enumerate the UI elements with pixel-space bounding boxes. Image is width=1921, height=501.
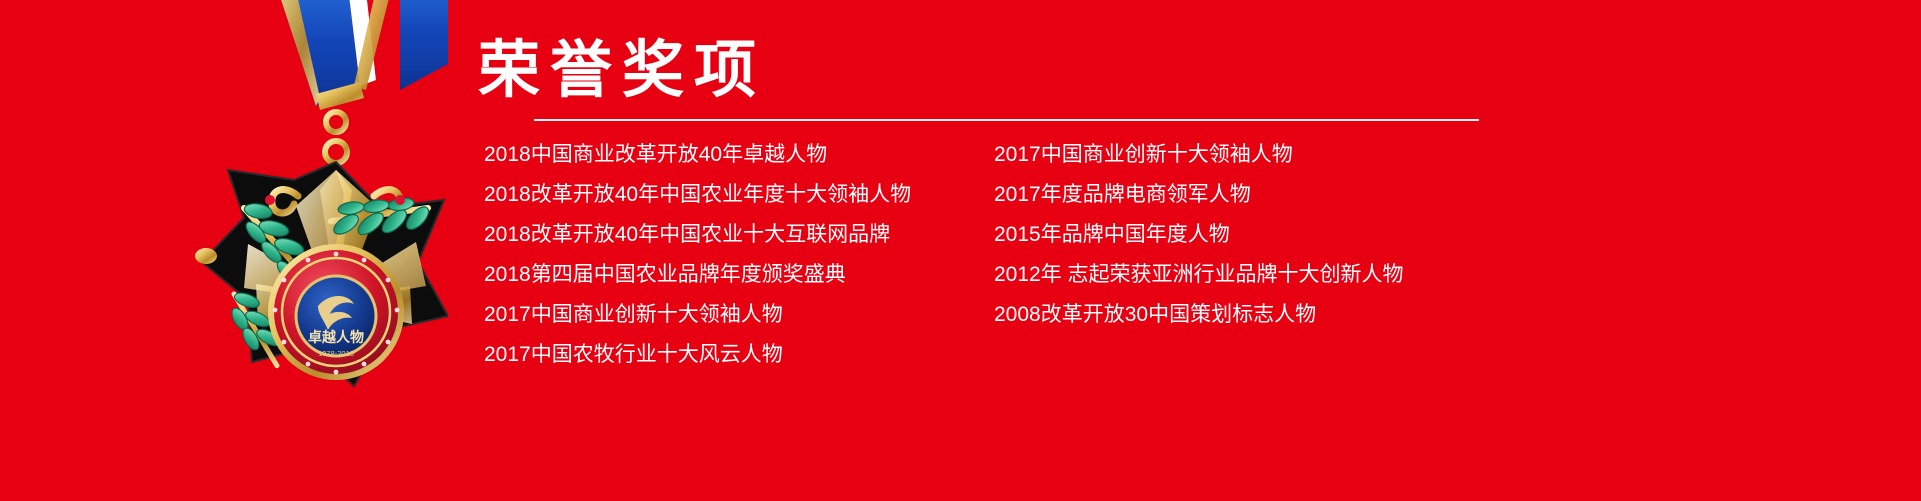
- award-item: 2018中国商业改革开放40年卓越人物: [484, 135, 994, 175]
- award-item: 2017中国商业创新十大领袖人物: [994, 135, 1464, 175]
- medal-center-text: 卓越人物: [308, 329, 364, 345]
- medal-ribbon: [266, 0, 448, 110]
- awards-column-right: 2017中国商业创新十大领袖人物 2017年度品牌电商领军人物 2015年品牌中…: [994, 135, 1464, 335]
- medal-nub: [195, 248, 217, 264]
- award-item: 2017年度品牌电商领军人物: [994, 175, 1464, 215]
- medal-center-years: 1978-2018: [318, 349, 354, 358]
- award-item: 2017中国商业创新十大领袖人物: [484, 295, 994, 335]
- banner-content: 荣誉奖项 2018中国商业改革开放40年卓越人物 2018改革开放40年中国农业…: [478, 38, 1478, 375]
- honor-awards-banner: 卓越人物 1978-2018 荣誉奖项 2018中国商业改革开放40年卓越人物 …: [0, 0, 1921, 501]
- title-divider: [534, 119, 1479, 121]
- award-item: 2015年品牌中国年度人物: [994, 215, 1464, 255]
- award-item: 2018第四届中国农业品牌年度颁奖盛典: [484, 255, 994, 295]
- page-title: 荣誉奖项: [478, 38, 1478, 103]
- awards-column-left: 2018中国商业改革开放40年卓越人物 2018改革开放40年中国农业年度十大领…: [478, 135, 994, 375]
- awards-columns: 2018中国商业改革开放40年卓越人物 2018改革开放40年中国农业年度十大领…: [478, 135, 1478, 375]
- award-item: 2018改革开放40年中国农业年度十大领袖人物: [484, 175, 994, 215]
- award-item: 2008改革开放30中国策划标志人物: [994, 295, 1464, 335]
- award-item: 2017中国农牧行业十大风云人物: [484, 335, 994, 375]
- honor-medal-icon: 卓越人物 1978-2018: [148, 0, 448, 414]
- award-item: 2012年 志起荣获亚洲行业品牌十大创新人物: [994, 255, 1464, 295]
- medal-rings: [325, 112, 347, 163]
- medal-center-disc: 卓越人物 1978-2018: [268, 244, 404, 380]
- award-item: 2018改革开放40年中国农业十大互联网品牌: [484, 215, 994, 255]
